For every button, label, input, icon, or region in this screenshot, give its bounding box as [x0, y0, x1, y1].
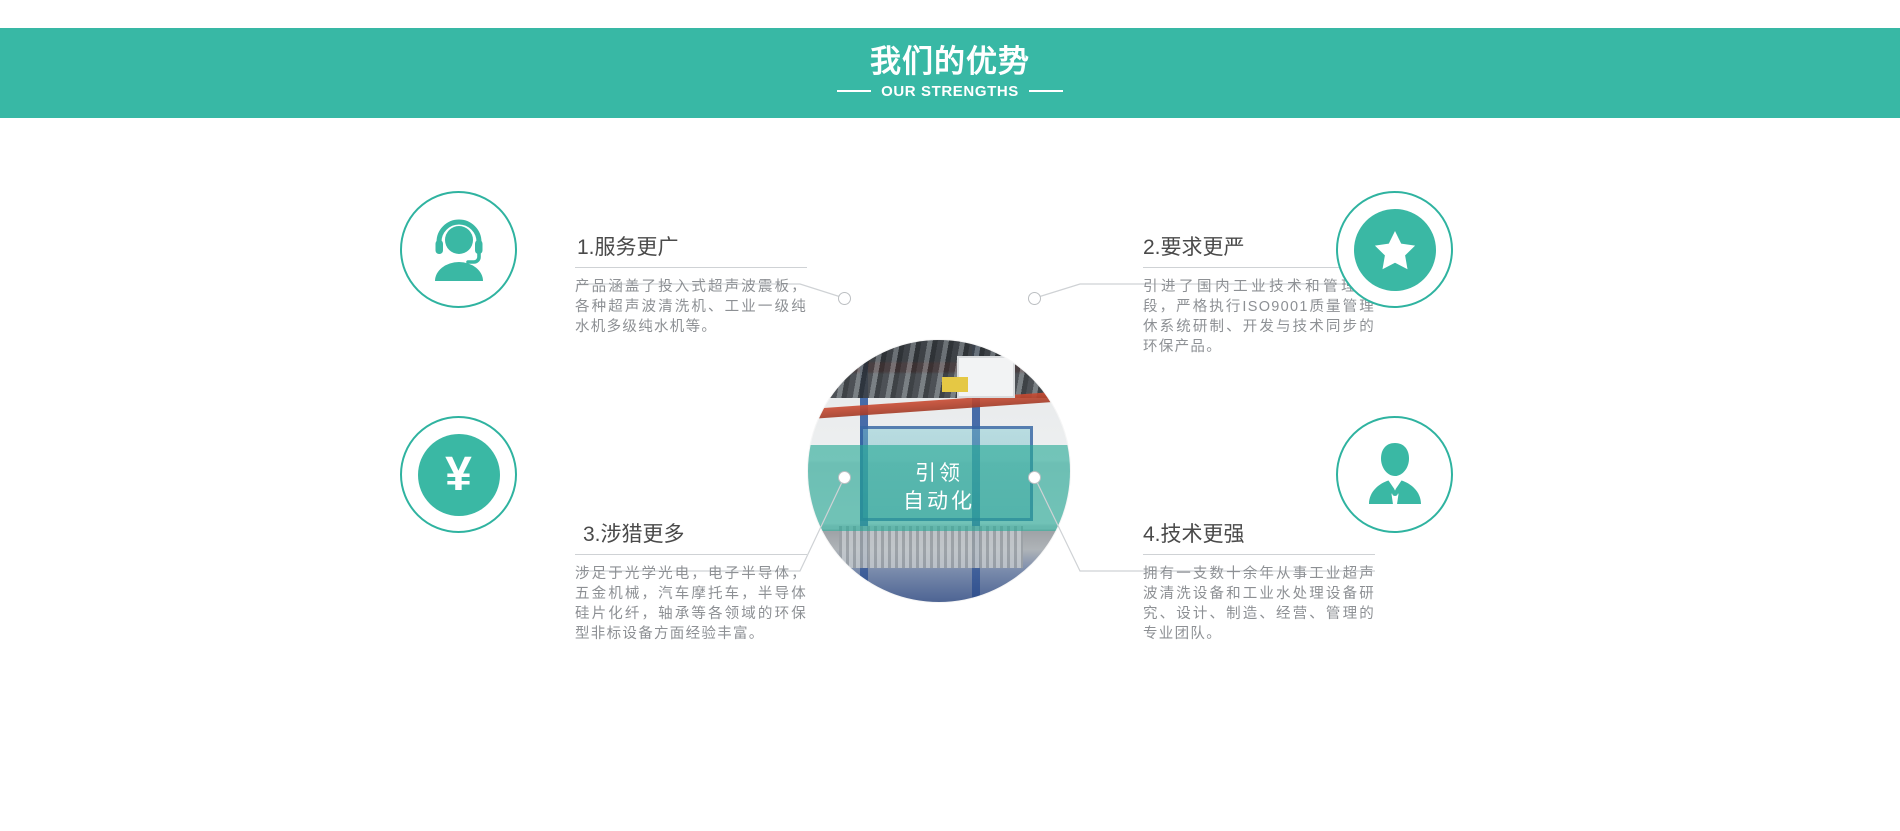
- page-subtitle-group: OUR STRENGTHS: [837, 83, 1063, 100]
- star-glyph: [1371, 226, 1419, 274]
- photo-yellow-panel-detail: [942, 377, 968, 393]
- yen-glyph: ¥: [445, 451, 472, 499]
- page-header: 我们的优势 OUR STRENGTHS: [0, 28, 1900, 118]
- icon-ring-scope: ¥: [400, 416, 517, 533]
- strength-title-3: 3.涉猎更多: [575, 523, 807, 546]
- page-subtitle: OUR STRENGTHS: [881, 83, 1019, 100]
- strength-block-1: 1.服务更广 产品涵盖了投入式超声波震板，各种超声波清洗机、工业一级纯水机多级纯…: [575, 236, 807, 337]
- page-title: 我们的优势: [870, 46, 1030, 79]
- businessman-icon: [1358, 438, 1432, 512]
- photo-parts-baskets-detail: [839, 526, 1022, 568]
- strength-body-2: 引进了国内工业技术和管理手段，严格执行ISO9001质量管理休系统研制、开发与技…: [1143, 277, 1375, 357]
- strengths-diagram: 引领 自动化 ¥: [0, 118, 1900, 831]
- headset-icon: [422, 213, 496, 287]
- icon-ring-service: [400, 191, 517, 308]
- strength-block-4: 4.技术更强 拥有一支数十余年从事工业超声波清洗设备和工业水处理设备研究、设计、…: [1143, 523, 1375, 644]
- subtitle-rule-left: [837, 90, 871, 92]
- strength-title-4: 4.技术更强: [1143, 523, 1375, 546]
- yen-icon: ¥: [418, 434, 500, 516]
- strength-rule-4: [1143, 554, 1375, 555]
- strength-rule-3: [575, 554, 807, 555]
- connector-node-top-left: [838, 292, 851, 305]
- overlay-line-2: 自动化: [903, 488, 975, 516]
- strength-title-1: 1.服务更广: [575, 236, 807, 259]
- star-icon: [1354, 209, 1436, 291]
- subtitle-rule-right: [1029, 90, 1063, 92]
- strength-rule-1: [575, 267, 807, 268]
- icon-ring-technology: [1336, 416, 1453, 533]
- icon-ring-standard: [1336, 191, 1453, 308]
- connector-node-top-right: [1028, 292, 1041, 305]
- strength-body-3: 涉足于光学光电，电子半导体，五金机械，汽车摩托车，半导体硅片化纤，轴承等各领域的…: [575, 564, 807, 644]
- connector-node-bottom-right: [1028, 471, 1041, 484]
- strength-body-4: 拥有一支数十余年从事工业超声波清洗设备和工业水处理设备研究、设计、制造、经营、管…: [1143, 564, 1375, 644]
- strength-body-1: 产品涵盖了投入式超声波震板，各种超声波清洗机、工业一级纯水机多级纯水机等。: [575, 277, 807, 337]
- overlay-line-1: 引领: [915, 460, 963, 488]
- strength-block-3: 3.涉猎更多 涉足于光学光电，电子半导体，五金机械，汽车摩托车，半导体硅片化纤，…: [575, 523, 807, 644]
- photo-ceiling-detail: [808, 340, 1070, 398]
- center-overlay-caption: 引领 自动化: [808, 445, 1070, 531]
- connector-node-bottom-left: [838, 471, 851, 484]
